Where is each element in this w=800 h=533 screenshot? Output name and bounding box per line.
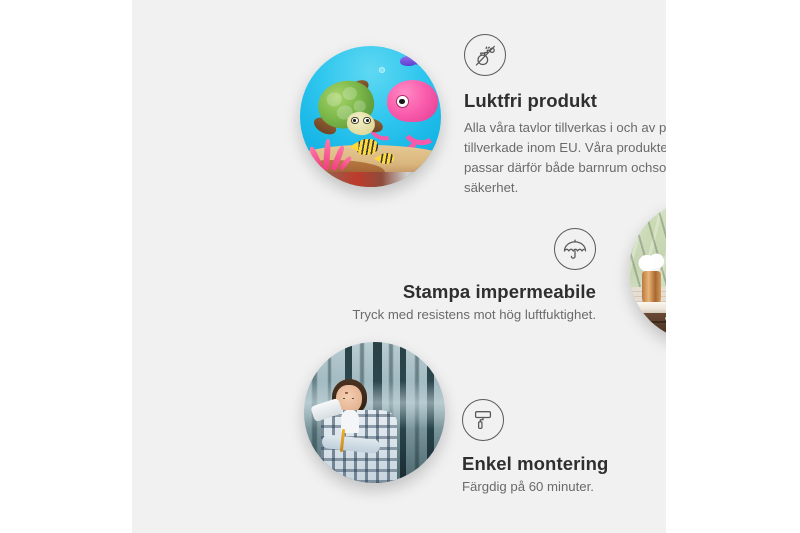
bubble-icon <box>379 67 385 73</box>
feature-description: Alla våra tavlor tillverkas i och av pro… <box>464 118 666 198</box>
feature-description: Tryck med resistens mot hög luftfuktighe… <box>312 305 596 325</box>
feature-title: Enkel montering <box>462 452 666 475</box>
icon-wrap <box>462 399 666 441</box>
forest-scene-art <box>304 342 445 483</box>
purple-fish-icon <box>400 56 418 67</box>
wood-cabinet <box>640 313 666 341</box>
feature-title: Stampa impermeabile <box>312 280 596 303</box>
feature-waterproof-print: Stampa impermeabile Tryck med resistens … <box>312 228 596 325</box>
no-odour-spray-bottle-icon <box>464 34 506 76</box>
underwater-cartoon-mural-thumbnail[interactable] <box>300 46 441 187</box>
paint-roller-icon <box>462 399 504 441</box>
feature-title: Luktfri produkt <box>464 89 666 112</box>
bathroom-scene-art <box>629 200 666 341</box>
promo-banner: Luktfri produkt Alla våra tavlor tillver… <box>0 0 800 533</box>
turtle-eye <box>351 117 359 125</box>
icon-wrap <box>464 34 666 76</box>
umbrella-icon <box>554 228 596 270</box>
coral <box>307 136 355 173</box>
feature-easy-assembly: Enkel montering Färgdig på 60 minuter. <box>462 399 666 497</box>
underwater-scene-art <box>300 46 441 187</box>
woman-with-paint-roller-forest-thumbnail[interactable] <box>304 342 445 483</box>
yellow-fish-icon <box>356 139 377 155</box>
icon-wrap <box>312 228 596 270</box>
octopus-eye <box>396 95 409 108</box>
bathroom-tropical-wallpaper-thumbnail[interactable] <box>629 200 666 341</box>
woman-figure <box>315 379 402 483</box>
content-panel: Luktfri produkt Alla våra tavlor tillver… <box>132 0 666 533</box>
feature-odour-free: Luktfri produkt Alla våra tavlor tillver… <box>464 34 666 198</box>
scene-bottom-strip <box>300 172 441 188</box>
feature-description: Färgdig på 60 minuter. <box>462 477 666 497</box>
